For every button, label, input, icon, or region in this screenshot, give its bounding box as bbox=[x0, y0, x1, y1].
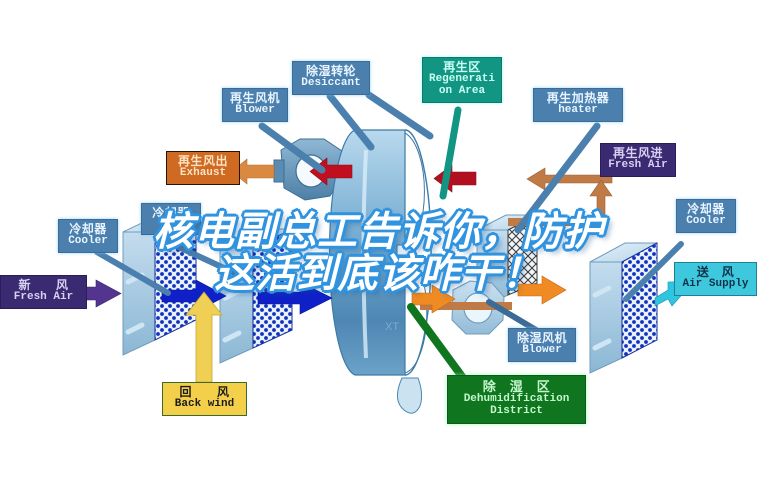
callout-cooler-left-outer-cn: 冷却器 bbox=[61, 223, 115, 236]
callout-cooler-left-inner-cn: 冷却器 bbox=[144, 207, 198, 220]
callout-regeneration-heater[interactable]: 再生加热器 heater bbox=[533, 88, 623, 122]
callout-dehumidification-blower[interactable]: 除湿风机 Blower bbox=[508, 328, 576, 362]
rotor-seal-strip bbox=[397, 378, 421, 413]
callout-dehumidification-blower-cn: 除湿风机 bbox=[511, 332, 573, 345]
callout-cooler-right[interactable]: 冷却器 Cooler bbox=[676, 199, 736, 233]
callout-dehumidification-district[interactable]: 除 湿 区 Dehumidification District bbox=[447, 375, 586, 424]
callout-regeneration-area[interactable]: 再生区 Regenerati on Area bbox=[422, 57, 502, 103]
callout-regeneration-fresh-air-en: Fresh Air bbox=[603, 160, 673, 172]
callout-dehumidification-blower-en: Blower bbox=[511, 345, 573, 357]
callout-cooler-left-outer-en: Cooler bbox=[61, 236, 115, 248]
callout-process-fresh-air-en: Fresh Air bbox=[3, 292, 84, 304]
callout-process-fresh-air[interactable]: 新 风 Fresh Air bbox=[0, 275, 87, 309]
callout-regeneration-blower-en: Blower bbox=[225, 105, 285, 117]
callout-regeneration-heater-cn: 再生加热器 bbox=[536, 92, 620, 105]
callout-cooler-left-outer[interactable]: 冷却器 Cooler bbox=[58, 219, 118, 253]
callout-regeneration-heater-en: heater bbox=[536, 105, 620, 117]
callout-regeneration-blower[interactable]: 再生风机 Blower bbox=[222, 88, 288, 122]
callout-cooler-left-inner[interactable]: 冷却器 bbox=[141, 203, 201, 235]
callout-dehumidification-district-cn: 除 湿 区 bbox=[450, 380, 583, 394]
regen-hot-air-arrow-2 bbox=[434, 165, 476, 192]
callout-desiccant-wheel-cn: 除湿转轮 bbox=[295, 65, 367, 78]
dehumidifier-schematic-diagram: XT bbox=[0, 0, 757, 488]
callout-back-wind-en: Back wind bbox=[165, 399, 244, 411]
callout-regeneration-blower-cn: 再生风机 bbox=[225, 92, 285, 105]
callout-cooler-right-en: Cooler bbox=[679, 216, 733, 228]
callout-regeneration-area-cn: 再生区 bbox=[425, 61, 499, 74]
callout-regeneration-exhaust-cn: 再生风出 bbox=[169, 155, 237, 168]
callout-desiccant-wheel-en: Desiccant bbox=[295, 78, 367, 90]
callout-desiccant-wheel[interactable]: 除湿转轮 Desiccant bbox=[292, 61, 370, 95]
svg-text:XT: XT bbox=[385, 321, 399, 333]
callout-regeneration-exhaust-en: Exhaust bbox=[169, 168, 237, 180]
callout-air-supply-en: Air Supply bbox=[677, 279, 754, 291]
callout-regeneration-area-en-2: on Area bbox=[425, 86, 499, 98]
callout-process-fresh-air-cn: 新 风 bbox=[3, 279, 84, 292]
callout-back-wind[interactable]: 回 风 Back wind bbox=[162, 382, 247, 416]
cooler-coil-right bbox=[590, 243, 657, 373]
callout-regeneration-exhaust[interactable]: 再生风出 Exhaust bbox=[166, 151, 240, 185]
callout-air-supply[interactable]: 送 风 Air Supply bbox=[674, 262, 757, 296]
callout-regeneration-fresh-air[interactable]: 再生风进 Fresh Air bbox=[600, 143, 676, 177]
callout-back-wind-cn: 回 风 bbox=[165, 386, 244, 399]
callout-air-supply-cn: 送 风 bbox=[677, 266, 754, 279]
callout-dehumidification-district-en-2: District bbox=[450, 406, 583, 418]
callout-regeneration-fresh-air-cn: 再生风进 bbox=[603, 147, 673, 160]
callout-cooler-right-cn: 冷却器 bbox=[679, 203, 733, 216]
